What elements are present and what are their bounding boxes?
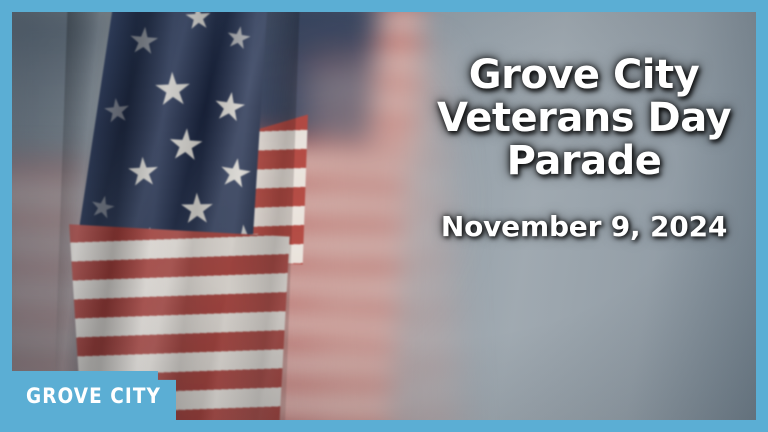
title-line-1: Grove City [400,54,756,97]
blurred-flag-right [302,49,463,420]
event-banner: Grove City Veterans Day Parade November … [0,0,768,432]
background-photo: Grove City Veterans Day Parade November … [12,12,756,420]
grove-city-logo-band: GROVE CITY [12,371,176,420]
grove-city-logo-text: GROVE CITY [26,384,161,408]
title-line-2: Veterans Day [400,97,756,140]
foreground-american-flag [52,12,300,420]
